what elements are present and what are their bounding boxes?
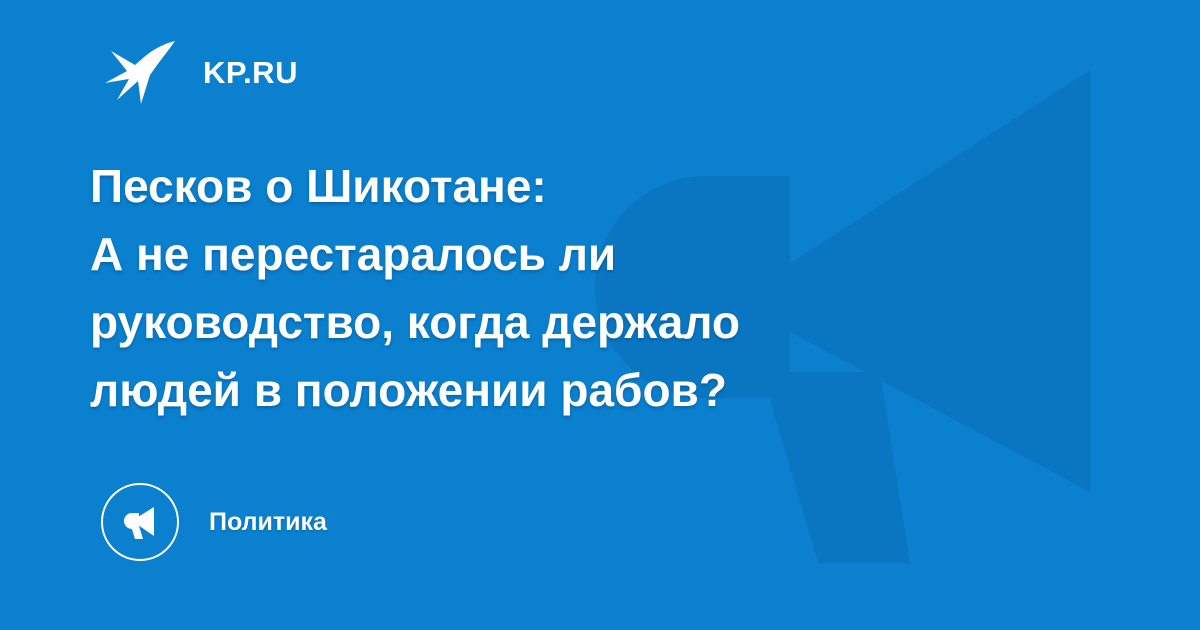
- headline-line-4: людей в положении рабов?: [90, 356, 1100, 424]
- headline-line-1: Песков о Шикотане:: [90, 152, 1100, 220]
- swallow-bird-icon: [105, 38, 177, 106]
- category-badge[interactable]: Политика: [101, 483, 327, 561]
- megaphone-icon: [101, 483, 179, 561]
- site-header: KP.RU: [105, 38, 298, 106]
- headline-line-2: А не перестаралось ли: [90, 220, 1100, 288]
- brand-name: KP.RU: [203, 57, 298, 88]
- headline-line-3: руководство, когда держало: [90, 288, 1100, 356]
- social-share-card: KP.RU Песков о Шикотане: А не перестарал…: [0, 0, 1200, 630]
- page-title: Песков о Шикотане: А не перестаралось ли…: [90, 152, 1100, 424]
- category-label: Политика: [209, 510, 327, 535]
